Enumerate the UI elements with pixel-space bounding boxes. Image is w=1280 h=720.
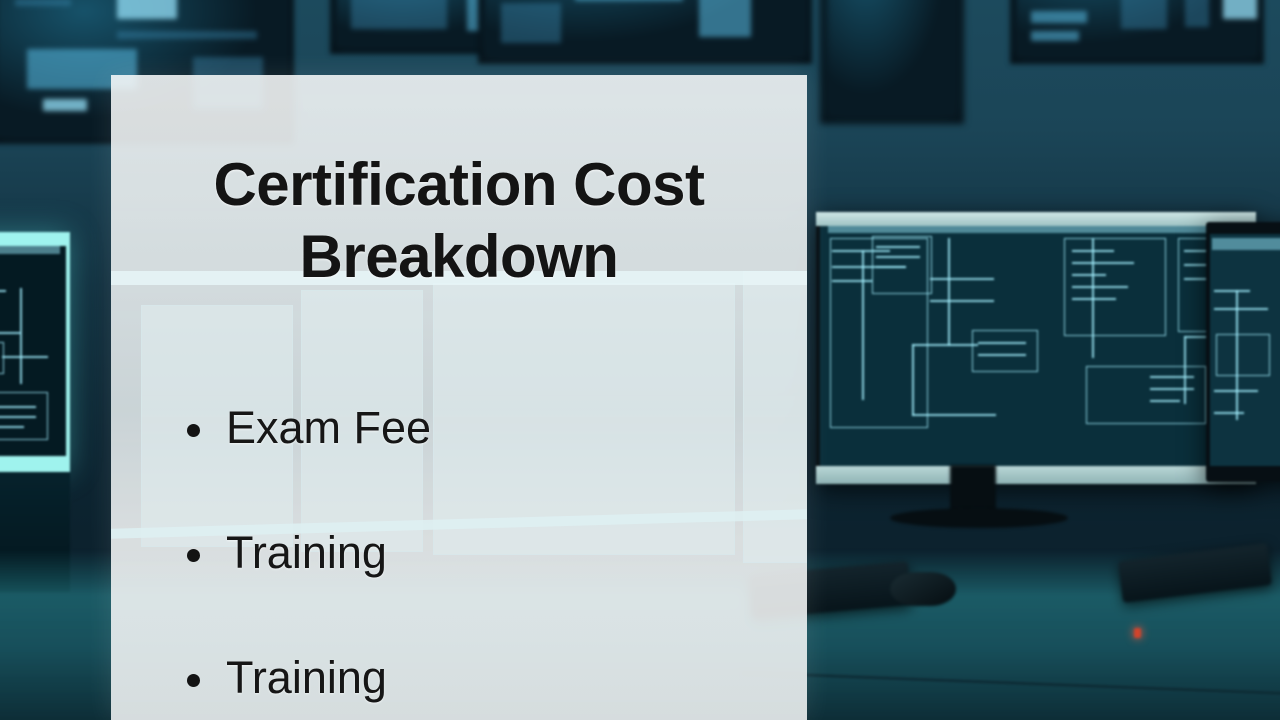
cyan-monitor — [0, 232, 70, 472]
list-item-label: Training — [226, 527, 387, 579]
schematic-monitor — [816, 212, 1256, 484]
list-item-label: Training — [226, 652, 387, 704]
list-item: Training — [187, 652, 787, 720]
right-monitor — [1206, 222, 1280, 482]
schematic-monitor-bezel-top — [816, 212, 1256, 226]
bullet-dot-icon — [187, 549, 200, 562]
cyan-monitor-screen — [0, 246, 66, 456]
wall-monitor-4-screen — [1017, 0, 1257, 57]
wall-monitor-4 — [1010, 0, 1264, 64]
schematic-monitor-screen — [820, 226, 1252, 466]
power-led-indicator — [1134, 628, 1141, 638]
wall-monitor-5 — [820, 0, 964, 124]
computer-mouse — [890, 572, 956, 606]
bullet-dot-icon — [187, 424, 200, 437]
wall-monitor-3-screen — [485, 0, 805, 57]
wall-monitor-5-screen — [827, 0, 957, 117]
bullet-dot-icon — [187, 674, 200, 687]
page-title-line-2: Breakdown — [139, 221, 779, 293]
page-title: Certification Cost Breakdown — [139, 149, 779, 293]
presentation-slide: Certification Cost Breakdown Exam Fee Tr… — [0, 0, 1280, 720]
panel-content: Certification Cost Breakdown Exam Fee Tr… — [111, 75, 807, 720]
page-title-line-1: Certification Cost — [139, 149, 779, 221]
monitor-stand-base — [890, 508, 1068, 528]
list-item: Exam Fee — [187, 402, 787, 527]
right-monitor-screen — [1210, 234, 1280, 466]
list-item-label: Exam Fee — [226, 402, 431, 454]
content-panel: Certification Cost Breakdown Exam Fee Tr… — [111, 75, 807, 720]
list-item: Training — [187, 527, 787, 652]
schematic-monitor-bezel-bottom — [816, 466, 1256, 484]
bullet-list: Exam Fee Training Training — [187, 402, 787, 720]
wall-monitor-3 — [478, 0, 812, 64]
